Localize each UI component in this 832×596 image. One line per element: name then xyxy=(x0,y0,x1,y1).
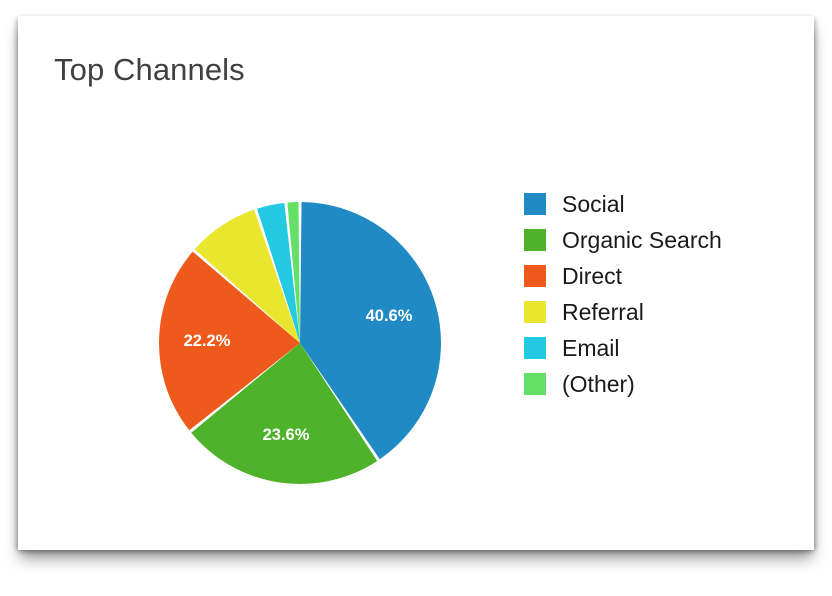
legend-item-label: (Other) xyxy=(562,373,635,396)
page-title: Top Channels xyxy=(54,52,245,88)
pie-slice-label: 40.6% xyxy=(366,307,413,325)
legend-item[interactable]: Social xyxy=(524,186,794,222)
screenshot-root: Top Channels 40.6%23.6%22.2% SocialOrgan… xyxy=(0,0,832,596)
legend-item[interactable]: Referral xyxy=(524,294,794,330)
legend-item-label: Organic Search xyxy=(562,229,722,252)
legend-swatch-icon xyxy=(524,337,546,359)
legend-item[interactable]: Email xyxy=(524,330,794,366)
pie-slice-label: 23.6% xyxy=(263,426,310,444)
legend-item-label: Referral xyxy=(562,301,644,324)
legend-item[interactable]: Organic Search xyxy=(524,222,794,258)
top-channels-card: Top Channels 40.6%23.6%22.2% SocialOrgan… xyxy=(18,16,814,550)
legend-swatch-icon xyxy=(524,229,546,251)
legend-item-label: Social xyxy=(562,193,625,216)
legend-item[interactable]: Direct xyxy=(524,258,794,294)
legend-swatch-icon xyxy=(524,373,546,395)
pie-chart: 40.6%23.6%22.2% xyxy=(155,198,445,488)
legend-item[interactable]: (Other) xyxy=(524,366,794,402)
chart-legend: SocialOrganic SearchDirectReferralEmail(… xyxy=(524,186,794,402)
legend-swatch-icon xyxy=(524,301,546,323)
legend-item-label: Direct xyxy=(562,265,622,288)
pie-slice-label: 22.2% xyxy=(184,332,231,350)
legend-swatch-icon xyxy=(524,193,546,215)
legend-item-label: Email xyxy=(562,337,620,360)
pie-chart-svg: 40.6%23.6%22.2% xyxy=(155,198,445,488)
legend-swatch-icon xyxy=(524,265,546,287)
